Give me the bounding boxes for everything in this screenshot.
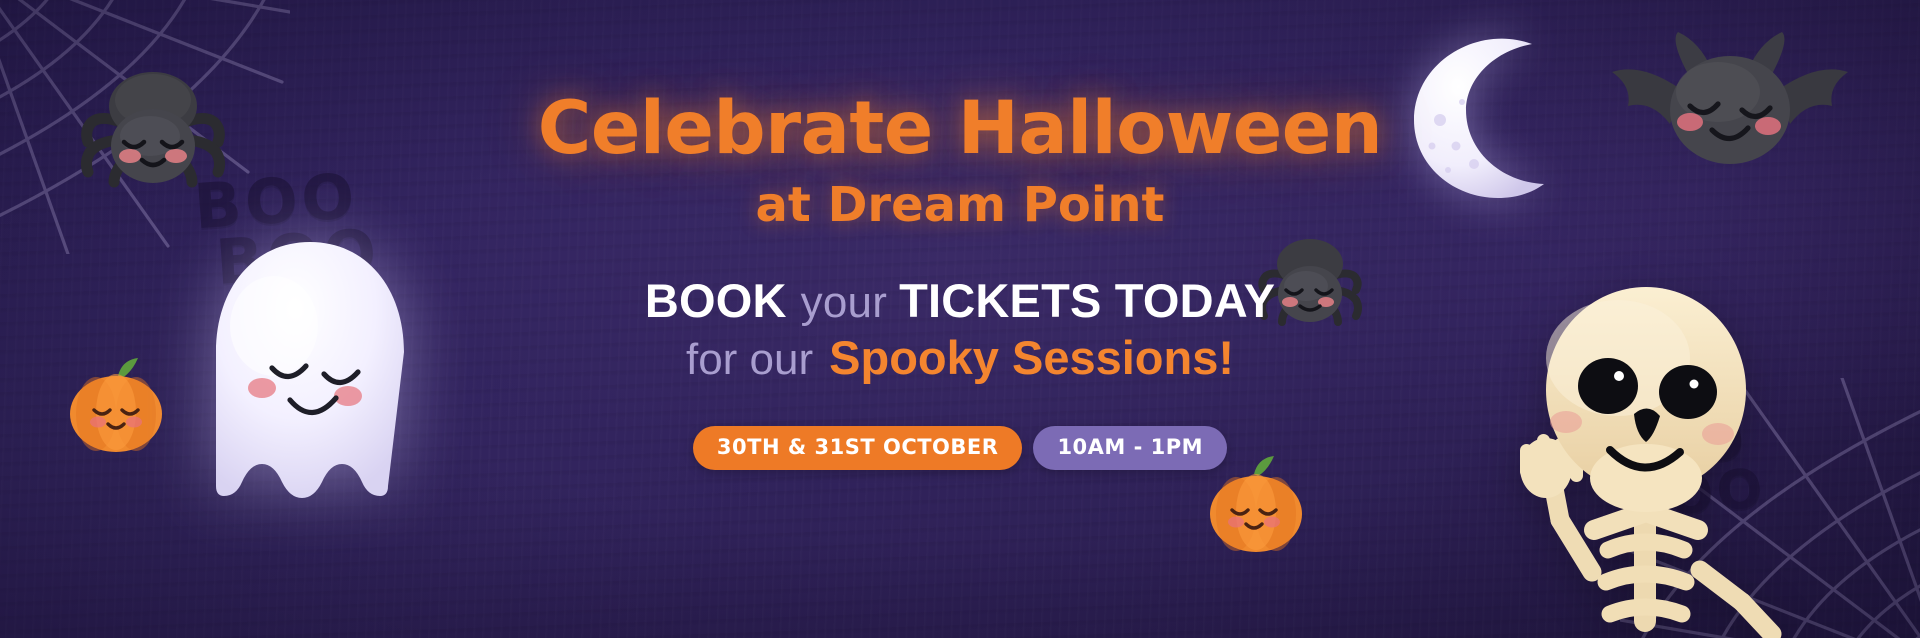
boo-watermark-line2: BOO: [1622, 463, 1768, 525]
headline-line-2: at Dream Point: [756, 181, 1165, 229]
spider-icon: [1248, 228, 1368, 338]
skeleton-icon: [1442, 282, 1808, 638]
spiderweb-top-left-icon: [0, 0, 290, 254]
subheadline-for-our: for our: [686, 335, 813, 384]
headline-line-1: Celebrate Halloween: [538, 92, 1382, 165]
ghost-icon: [196, 236, 424, 536]
subheadline-your: your: [801, 278, 887, 327]
background-texture: [0, 0, 1920, 638]
subheadline-line-2: for ourSpooky Sessions!: [686, 333, 1234, 383]
boo-watermark-line2: BOO: [214, 223, 381, 291]
date-pill[interactable]: 30TH & 31ST OCTOBER: [693, 426, 1023, 470]
subheadline-spooky-sessions: Spooky Sessions!: [829, 331, 1234, 384]
spiderweb-bottom-right-icon: [1620, 378, 1920, 638]
subheadline-line-1: BOOKyourTICKETS TODAY: [645, 276, 1275, 326]
banner-content: Celebrate Halloween at Dream Point BOOKy…: [0, 0, 1920, 638]
pumpkin-icon: [62, 352, 170, 456]
subheadline-tickets-today: TICKETS TODAY: [899, 274, 1275, 327]
boo-watermark-line1: BOO: [192, 159, 361, 243]
halloween-promo-banner: BOO BOO BOO BOO: [0, 0, 1920, 638]
subheadline-book: BOOK: [645, 274, 787, 327]
crescent-moon-icon: [1400, 28, 1576, 200]
boo-watermark-line1: BOO: [1603, 408, 1751, 483]
boo-watermark-right: BOO BOO: [1603, 413, 1768, 526]
vignette-overlay: [0, 0, 1920, 638]
info-pills: 30TH & 31ST OCTOBER 10AM - 1PM: [693, 426, 1227, 470]
time-pill[interactable]: 10AM - 1PM: [1033, 426, 1227, 470]
boo-watermark-left: BOO BOO: [192, 166, 381, 292]
spider-icon: [72, 58, 232, 200]
bat-icon: [1608, 28, 1852, 180]
